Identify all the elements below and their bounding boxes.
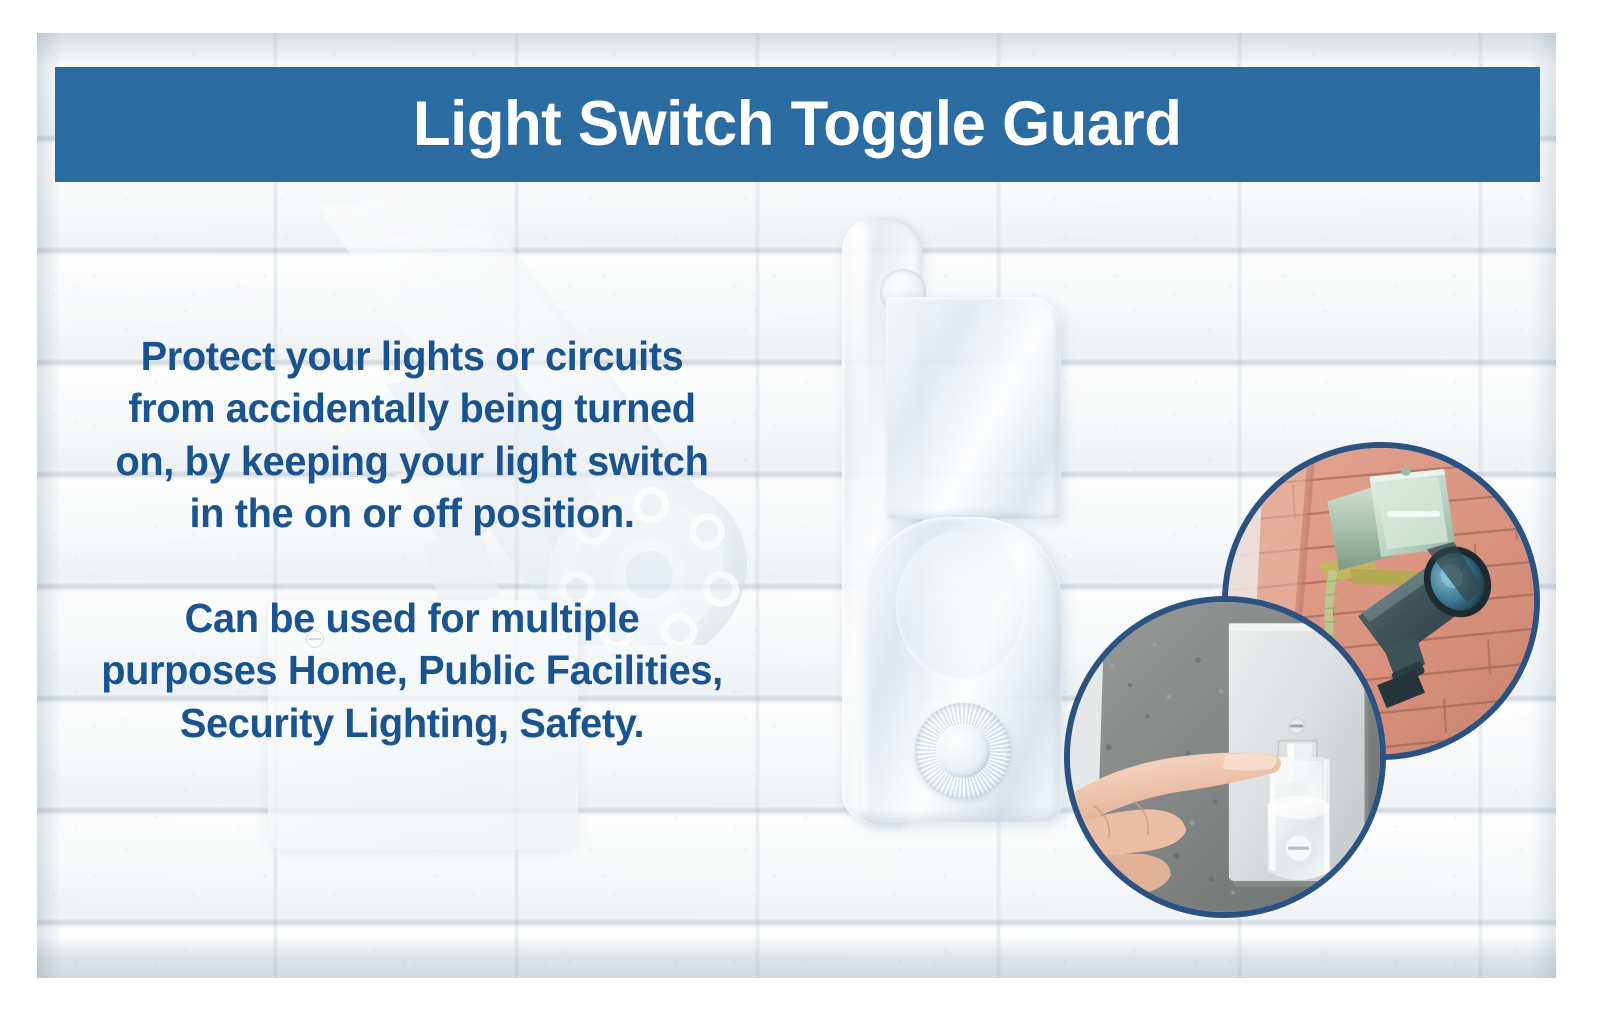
- title-banner: Light Switch Toggle Guard: [55, 67, 1540, 182]
- guard-lower-body: [862, 517, 1062, 822]
- copy-line-6: purposes Home, Public Facilities,: [73, 644, 752, 696]
- guard-thumbscrew-core: [936, 724, 990, 778]
- copy-line-3: on, by keeping your light switch: [73, 435, 752, 487]
- finger-on-guarded-switch-illustration: [1070, 602, 1380, 912]
- guard-specular-highlight: [850, 223, 868, 815]
- guard-thumbscrew: [915, 703, 1011, 799]
- inset-photo-switch-guard: [1064, 596, 1386, 918]
- copy-line-4: in the on or off position.: [73, 487, 752, 539]
- copy-line-7: Security Lighting, Safety.: [73, 697, 752, 749]
- copy-line-5: Can be used for multiple: [73, 592, 752, 644]
- marketing-copy-block: Protect your lights or circuits from acc…: [62, 330, 762, 749]
- copy-line-2: from accidentally being turned: [73, 382, 752, 434]
- product-image-toggle-guard: [820, 205, 1065, 835]
- paragraph-spacer: [62, 540, 762, 592]
- guard-body-recess: [896, 531, 1026, 681]
- guard-upper-shield: [886, 297, 1061, 519]
- product-banner: Light Switch Toggle Guard Protect your l…: [0, 0, 1600, 1023]
- page-title: Light Switch Toggle Guard: [413, 93, 1182, 156]
- copy-line-1: Protect your lights or circuits: [73, 330, 752, 382]
